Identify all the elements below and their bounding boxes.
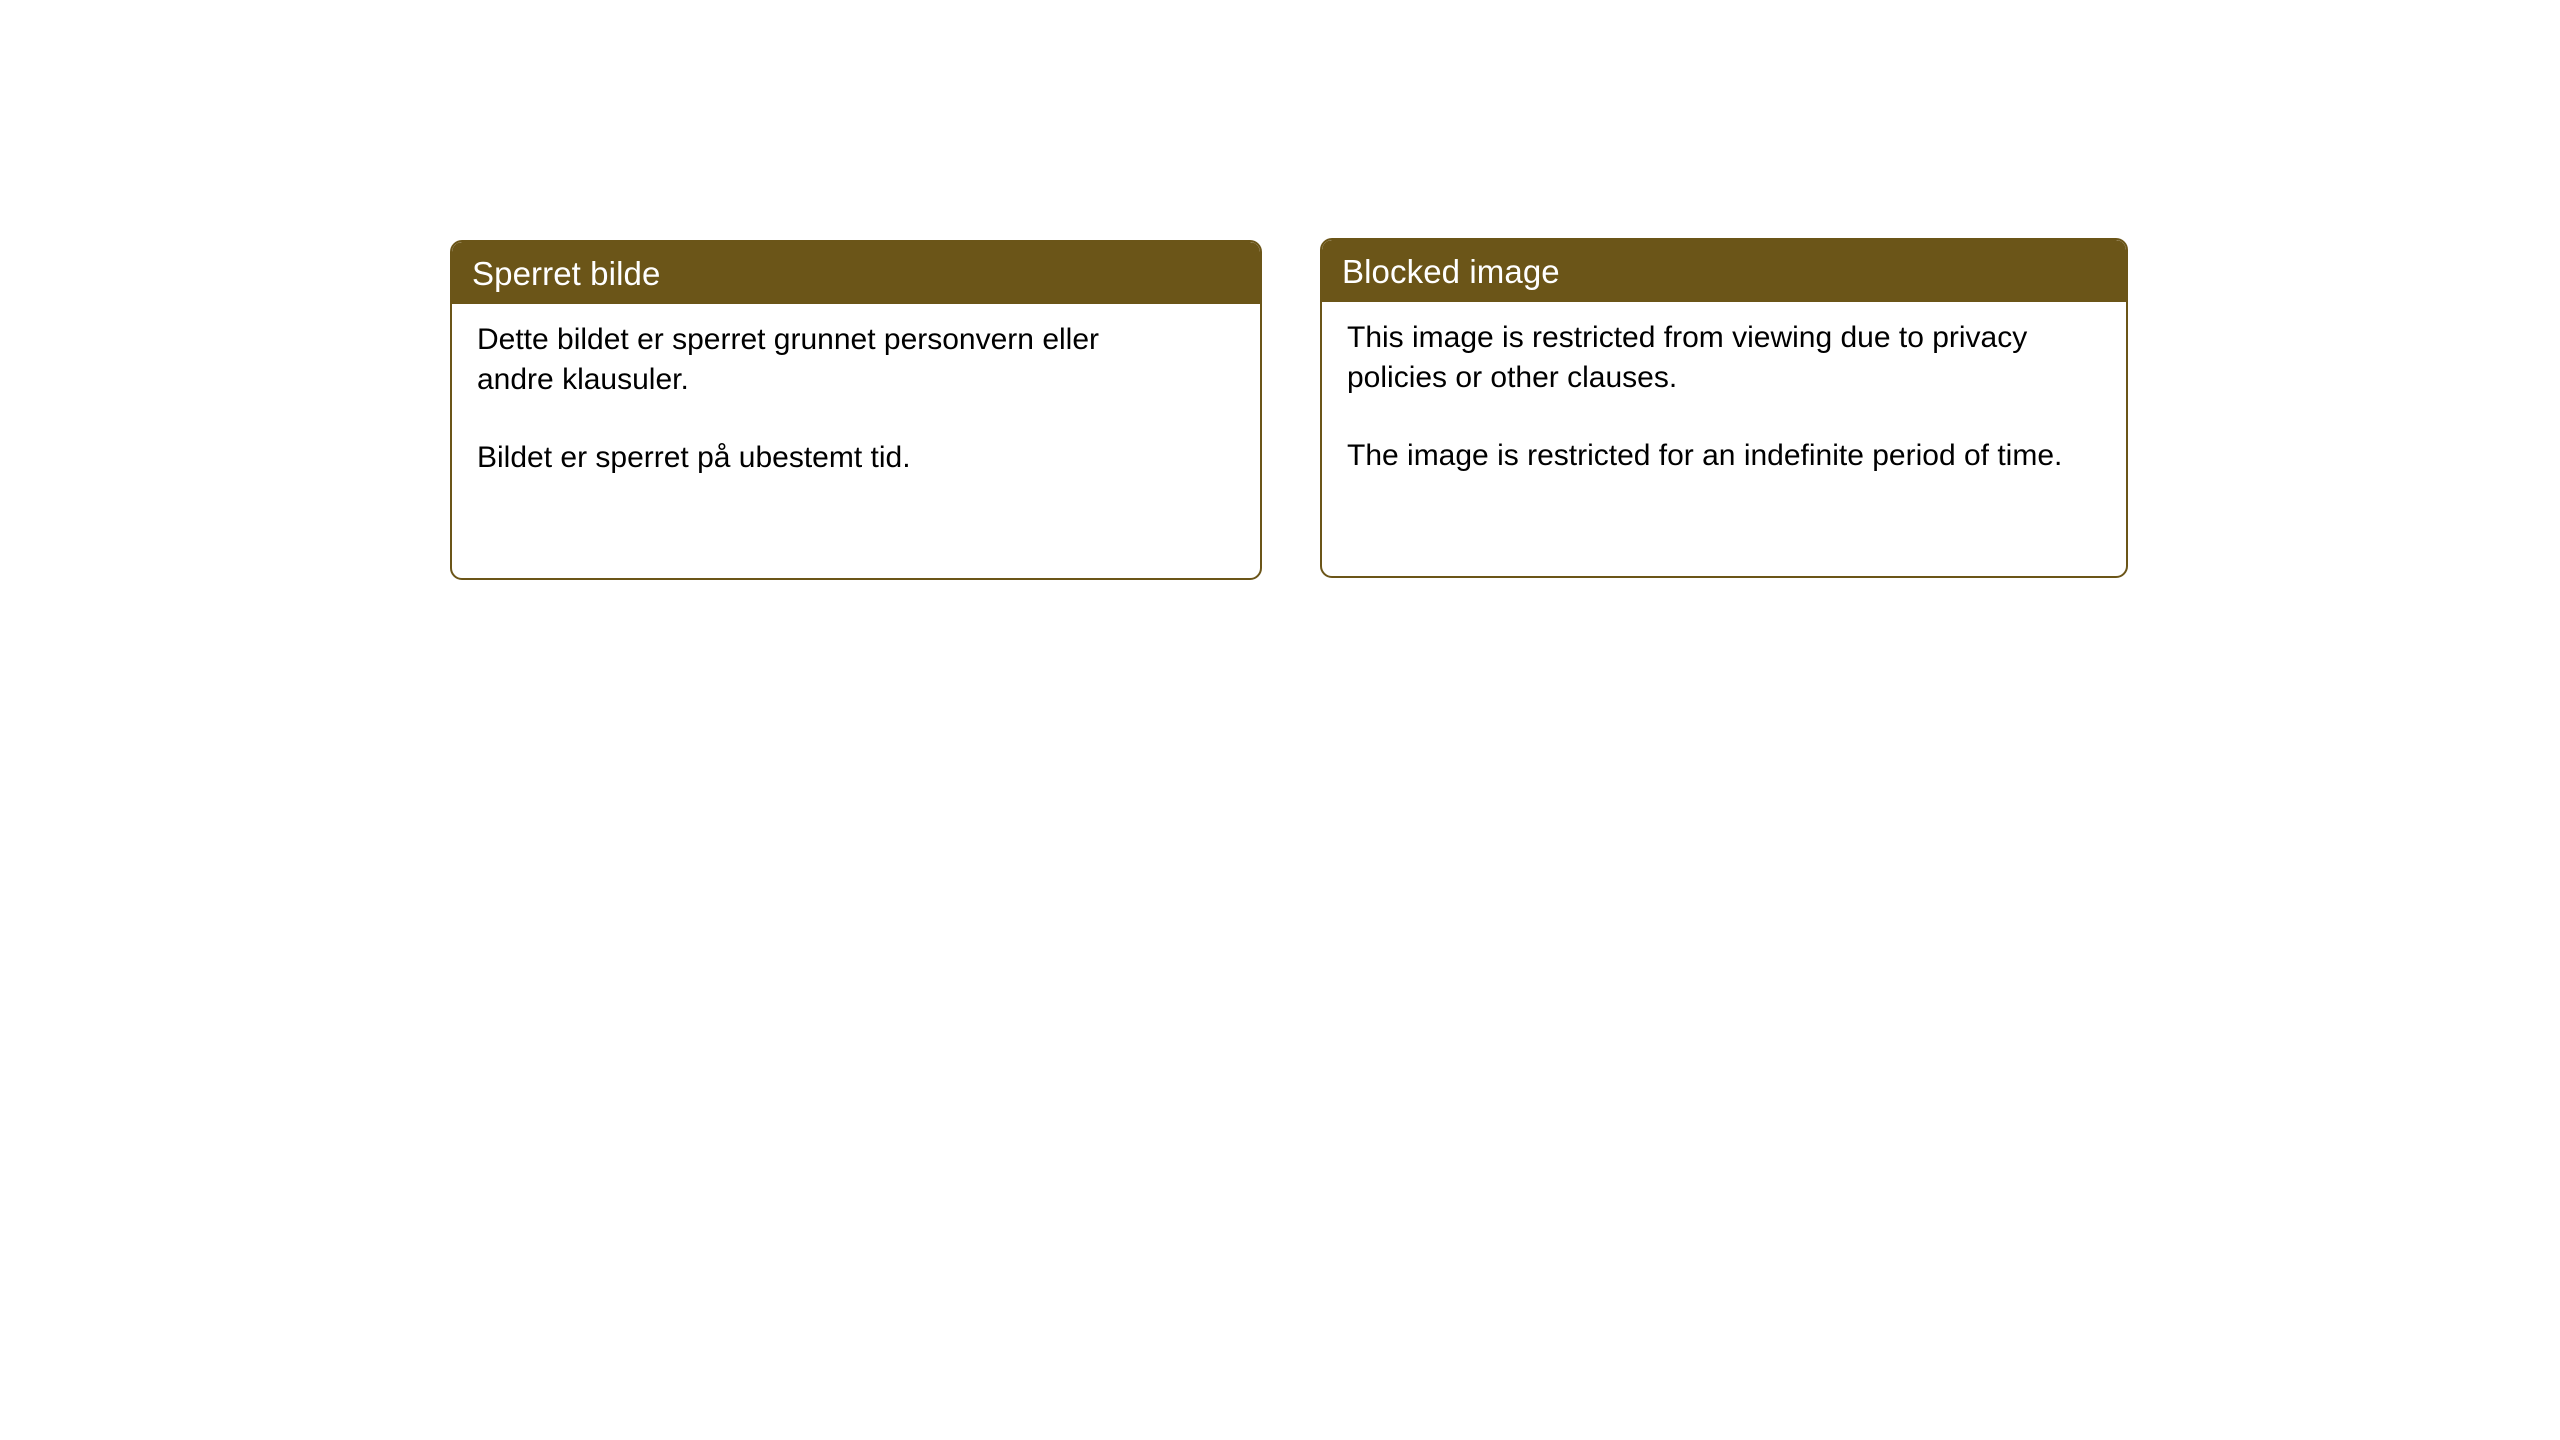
blocked-image-notice-norwegian: Sperret bilde Dette bildet er sperret gr… xyxy=(450,240,1262,580)
card-title-norwegian: Sperret bilde xyxy=(472,257,660,290)
blocked-image-notice-english: Blocked image This image is restricted f… xyxy=(1320,238,2128,578)
card-paragraph-primary-norwegian: Dette bildet er sperret grunnet personve… xyxy=(477,320,1177,399)
card-paragraph-secondary-norwegian: Bildet er sperret på ubestemt tid. xyxy=(477,438,1177,478)
card-paragraph-primary-english: This image is restricted from viewing du… xyxy=(1347,318,2087,397)
card-body-english: This image is restricted from viewing du… xyxy=(1322,302,2126,496)
card-header-english: Blocked image xyxy=(1322,240,2126,302)
card-title-english: Blocked image xyxy=(1342,255,1560,288)
card-paragraph-secondary-english: The image is restricted for an indefinit… xyxy=(1347,436,2087,476)
card-body-norwegian: Dette bildet er sperret grunnet personve… xyxy=(452,304,1260,498)
card-header-norwegian: Sperret bilde xyxy=(452,242,1260,304)
page-root: Sperret bilde Dette bildet er sperret gr… xyxy=(0,0,2560,1440)
